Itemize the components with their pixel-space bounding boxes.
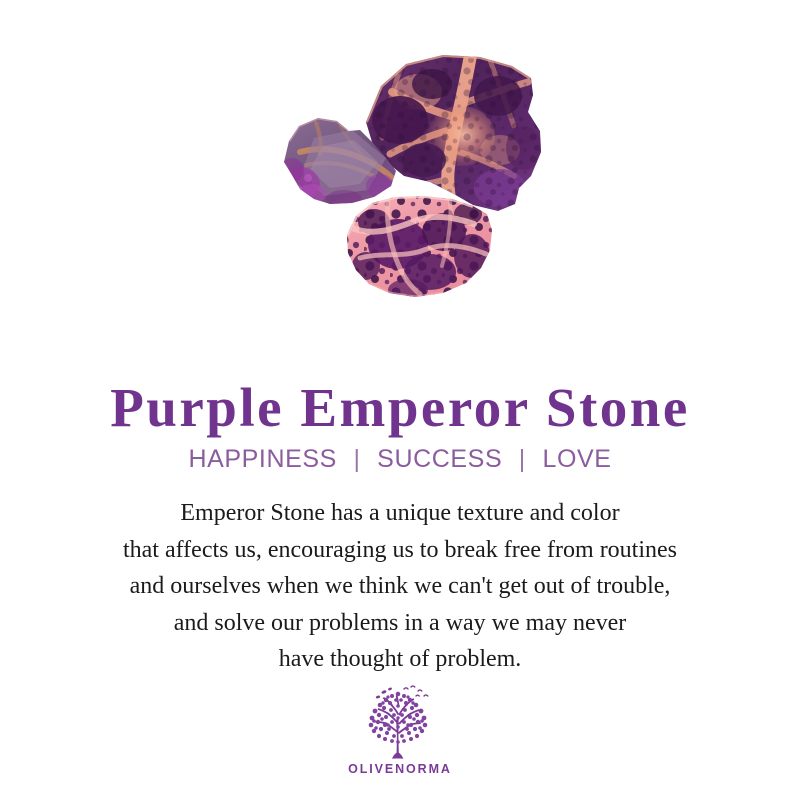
keyword-success: SUCCESS <box>377 443 502 475</box>
keyword-separator: | <box>510 443 535 475</box>
keyword-separator: | <box>345 443 370 475</box>
description-line: have thought of problem. <box>0 641 800 678</box>
description-line: Emperor Stone has a unique texture and c… <box>0 495 800 532</box>
brand-logo: OLIVENORMA <box>0 684 800 776</box>
keyword-happiness: HAPPINESS <box>188 443 337 475</box>
page-title: Purple Emperor Stone <box>0 377 800 439</box>
brand-wordmark: OLIVENORMA <box>0 762 800 776</box>
olivenorma-tree-icon <box>354 684 446 760</box>
poster-canvas: Purple Emperor Stone HAPPINESS | SUCCESS… <box>0 0 800 800</box>
stone-bottom <box>340 190 505 305</box>
description-line: and ourselves when we think we can't get… <box>0 568 800 605</box>
purple-emperor-stone-photo <box>0 0 800 320</box>
stone-top-right <box>360 50 550 220</box>
description-text: Emperor Stone has a unique texture and c… <box>0 495 800 678</box>
keyword-list: HAPPINESS | SUCCESS | LOVE <box>0 443 800 475</box>
keyword-love: LOVE <box>542 443 611 475</box>
description-line: that affects us, encouraging us to break… <box>0 532 800 569</box>
description-line: and solve our problems in a way we may n… <box>0 605 800 642</box>
